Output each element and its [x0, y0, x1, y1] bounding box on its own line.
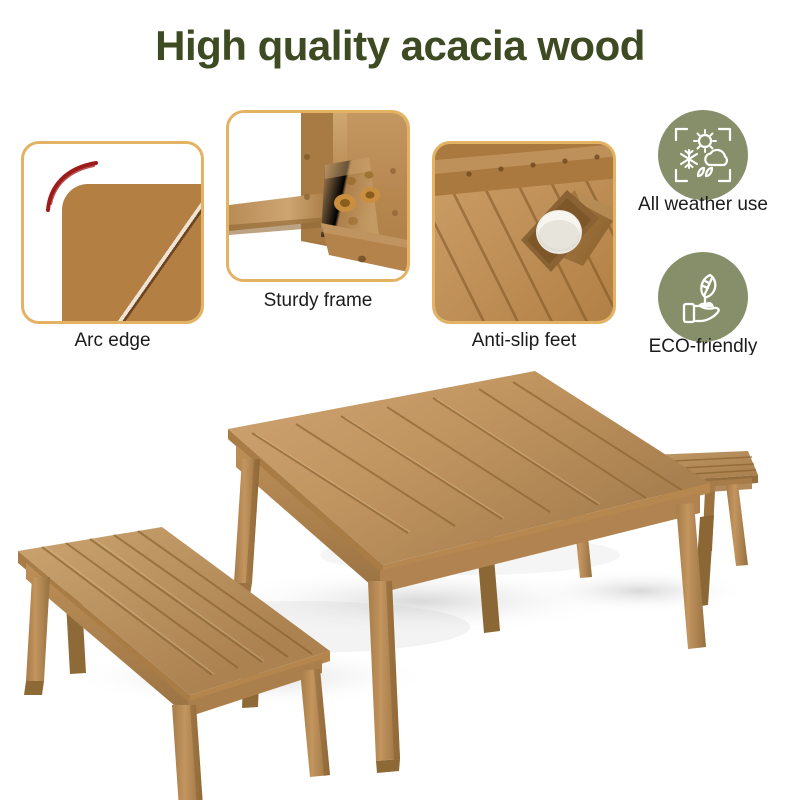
page-title: High quality acacia wood: [0, 22, 800, 70]
arc-edge-photo: [24, 144, 201, 321]
feature-card-arc-edge: [21, 141, 204, 324]
eco-hand-leaf-icon: [672, 266, 734, 328]
feature-label-anti-slip-feet: Anti-slip feet: [432, 330, 616, 352]
dining-set-illustration: [0, 355, 800, 800]
hero-product-image: [0, 355, 800, 800]
feature-card-sturdy-frame: [226, 110, 410, 282]
badge-all-weather: [658, 110, 748, 200]
leg-foot-pad-icon: [435, 144, 613, 321]
feature-card-anti-slip-feet: [432, 141, 616, 324]
feature-label-arc-edge: Arc edge: [21, 330, 204, 352]
badge-label-all-weather: All weather use: [613, 194, 793, 216]
wood-corner-icon: [62, 184, 201, 321]
badge-eco-friendly: [658, 252, 748, 342]
table-leg-joint-icon: [229, 113, 407, 279]
product-feature-graphic: High quality acacia wood Arc edge: [0, 0, 800, 800]
anti-slip-feet-photo: [435, 144, 613, 321]
feature-label-sturdy-frame: Sturdy frame: [226, 290, 410, 312]
weather-icon: [672, 124, 734, 186]
sturdy-frame-photo: [229, 113, 407, 279]
